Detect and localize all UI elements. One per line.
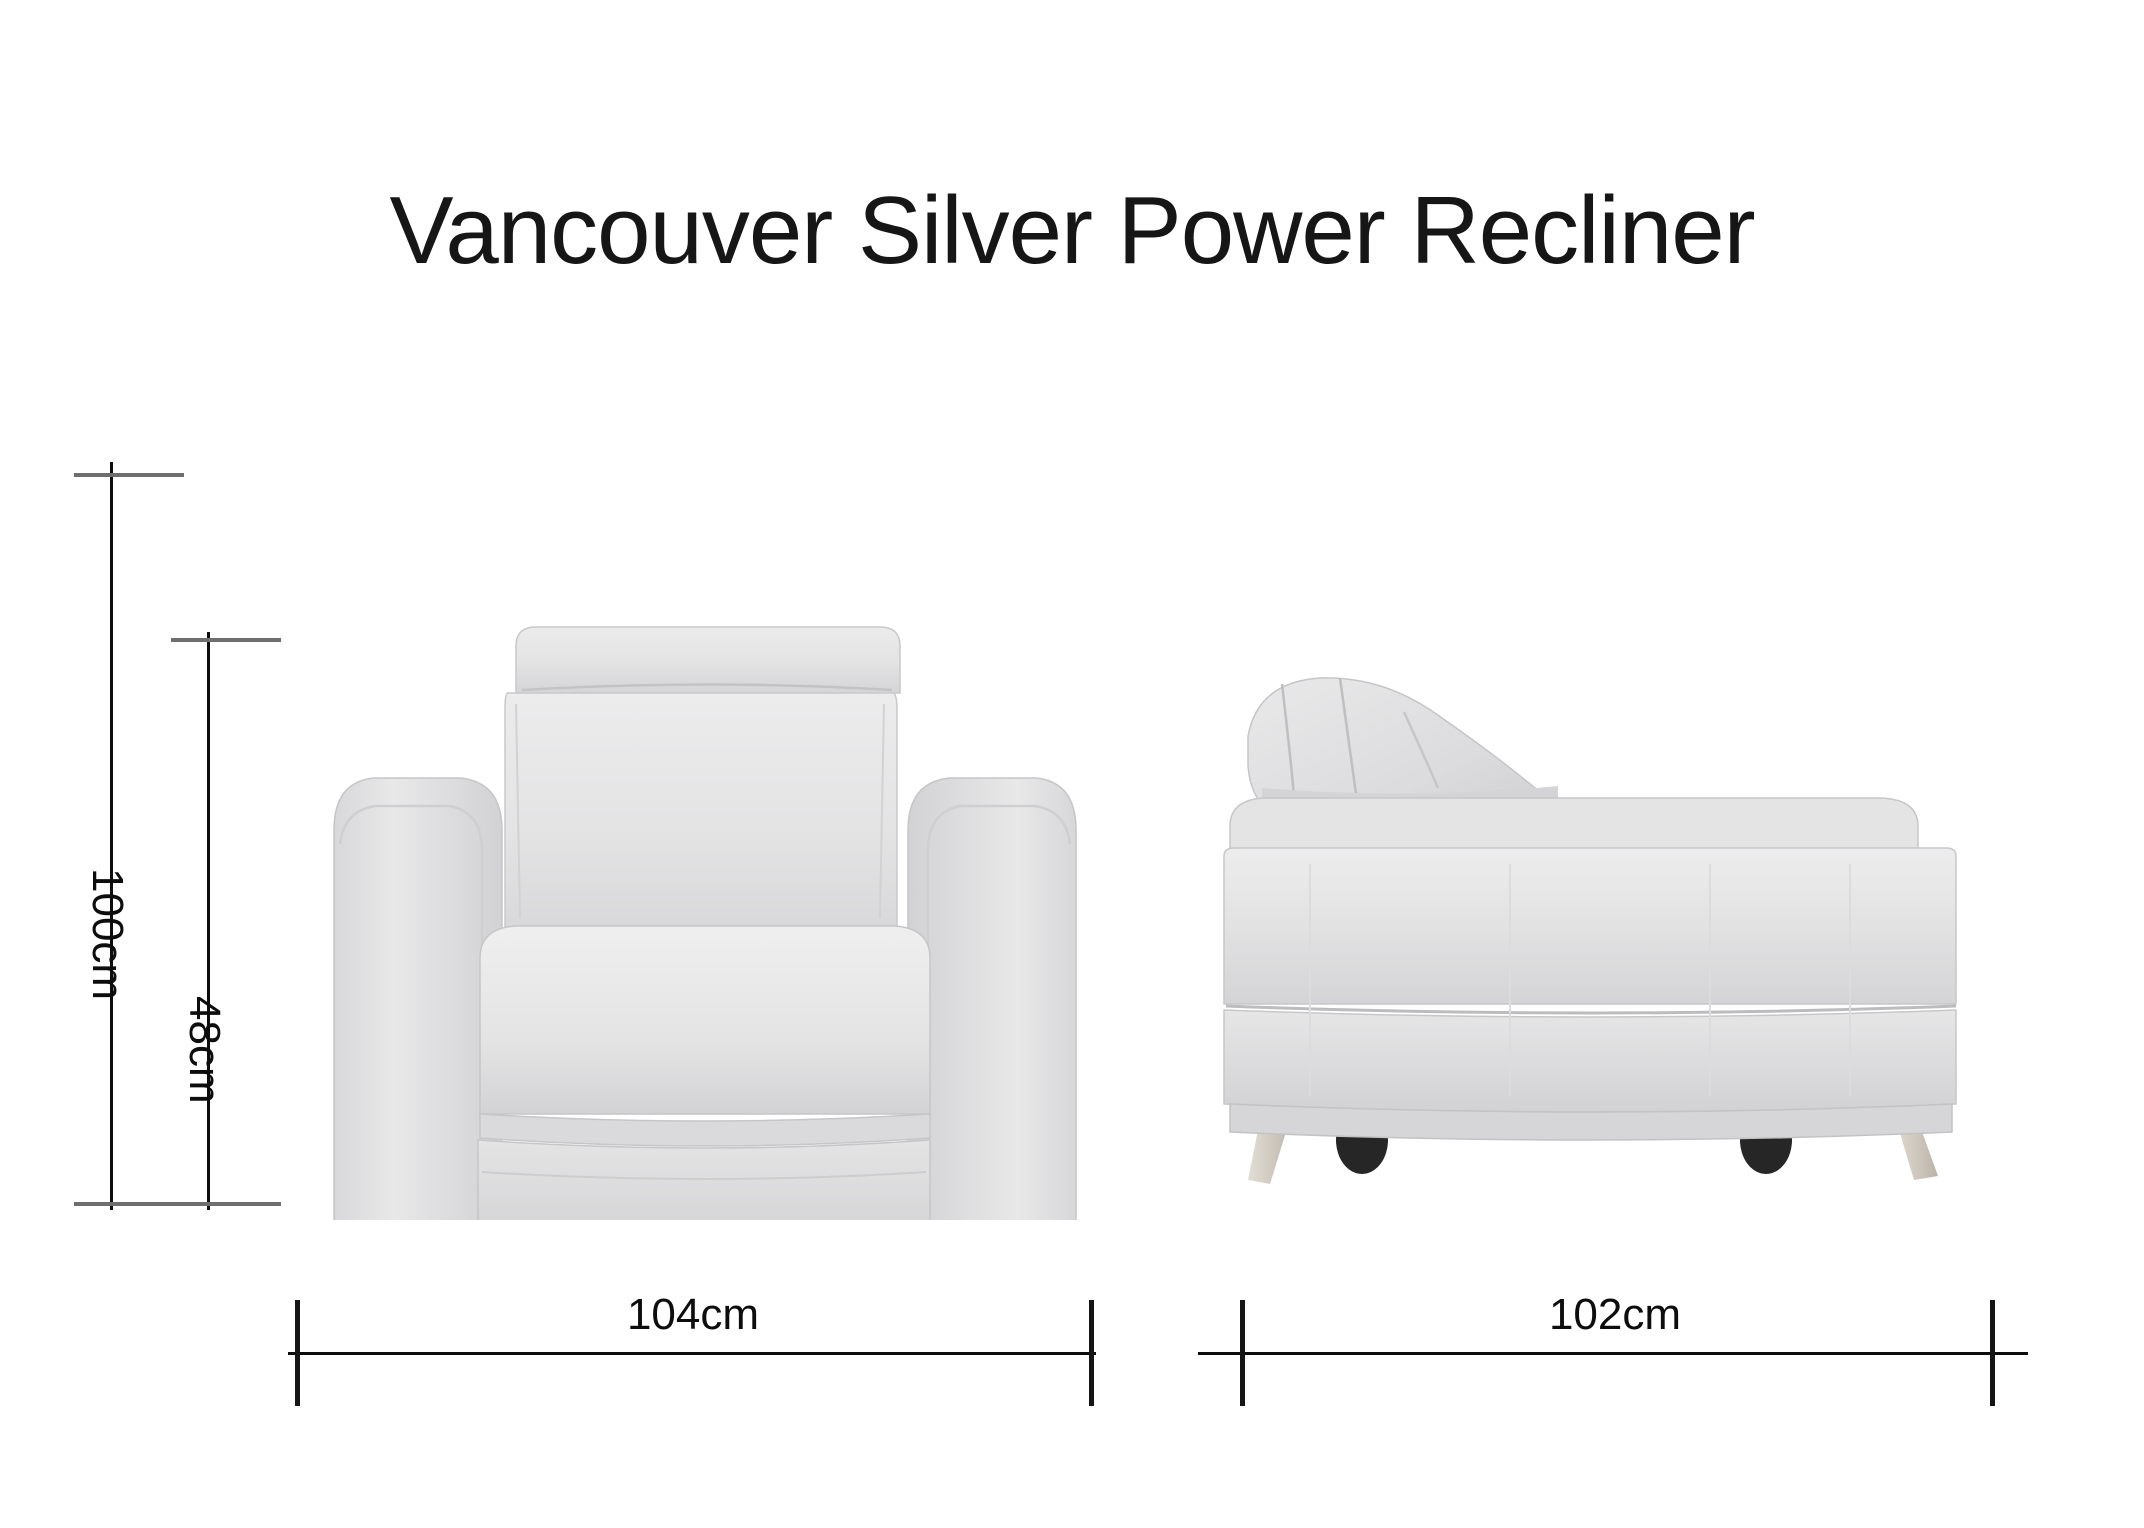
page-title: Vancouver Silver Power Recliner (0, 176, 2144, 286)
dimension-tick-height-seat-top (171, 638, 281, 642)
dimension-tick-depth-side-right (1990, 1300, 1995, 1406)
dimension-tick-height-seat-bottom (171, 1202, 281, 1206)
dimension-line-width-front (288, 1352, 1096, 1355)
dimension-tick-depth-side-left (1240, 1300, 1245, 1406)
dimension-label-width-front: 104cm (588, 1290, 798, 1340)
dimension-line-depth-side (1198, 1352, 2028, 1355)
dimension-tick-height-overall-bottom (74, 1202, 184, 1206)
dimension-tick-height-overall-top (74, 473, 184, 477)
dimension-tick-width-front-right (1089, 1300, 1094, 1406)
dimension-label-height-seat: 48cm (179, 996, 229, 1104)
dimension-line-height-seat (207, 632, 210, 1210)
dimension-label-depth-side: 102cm (1510, 1290, 1720, 1340)
dimension-line-height-overall (110, 462, 113, 1210)
recliner-side-view (1190, 620, 1990, 1220)
dimension-diagram-page: Vancouver Silver Power Recliner (0, 0, 2144, 1528)
dimension-tick-width-front-left (295, 1300, 300, 1406)
dimension-label-height-overall: 100cm (82, 868, 132, 1000)
recliner-front-view (310, 620, 1100, 1220)
